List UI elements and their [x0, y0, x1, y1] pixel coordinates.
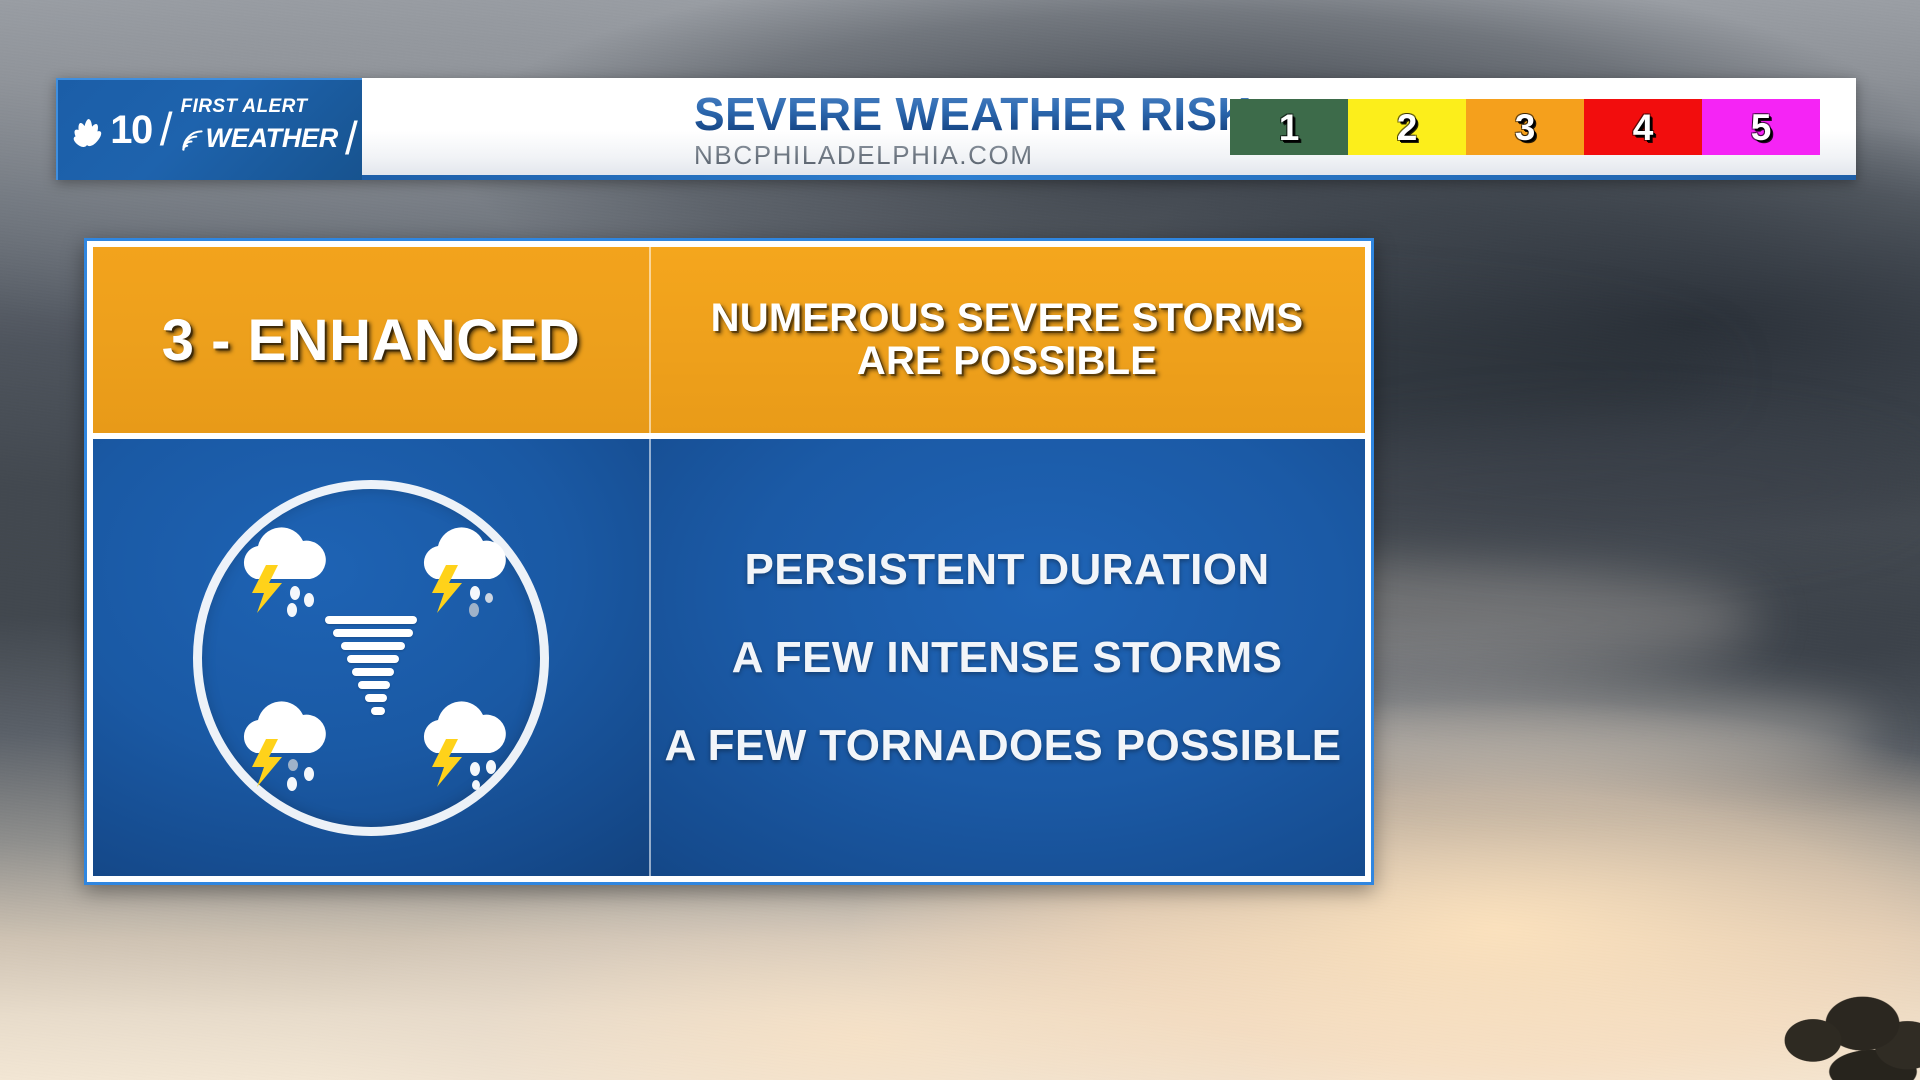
header-title-group: SEVERE WEATHER RISK NBCPHILADELPHIA.COM	[668, 78, 1251, 180]
risk-graphic-cell	[93, 439, 649, 876]
nbc-peacock-icon	[70, 115, 104, 145]
risk-level-label: 3 - ENHANCED	[162, 307, 581, 374]
risk-scale-legend: 1 2 3 4 5	[1230, 99, 1820, 155]
risk-summary-line1: NUMEROUS SEVERE STORMS	[711, 296, 1304, 340]
risk-summary-line2: ARE POSSIBLE	[857, 339, 1157, 383]
page-title: SEVERE WEATHER RISK	[694, 91, 1251, 137]
risk-level-banner: 3 - ENHANCED	[93, 247, 649, 433]
risk-detail-panel: 3 - ENHANCED NUMEROUS SEVERE STORMS ARE …	[84, 238, 1374, 885]
risk-bullet-2: A FEW INTENSE STORMS	[732, 636, 1283, 680]
tornado-icon	[325, 616, 417, 700]
risk-level-1[interactable]: 1	[1230, 99, 1348, 155]
risk-summary-text: NUMEROUS SEVERE STORMS ARE POSSIBLE	[711, 297, 1304, 383]
risk-level-4-number: 4	[1633, 109, 1654, 146]
logo-slash2-icon: /	[345, 115, 358, 161]
risk-summary-banner: NUMEROUS SEVERE STORMS ARE POSSIBLE	[649, 247, 1365, 433]
logo-weather-text: WEATHER	[206, 126, 338, 151]
thunderstorm-rain-icon	[410, 527, 514, 623]
risk-level-2-number: 2	[1397, 109, 1418, 146]
risk-bullet-3: A FEW TORNADOES POSSIBLE	[665, 724, 1342, 768]
risk-level-5[interactable]: 5	[1702, 99, 1820, 155]
radar-sweep-icon	[181, 129, 204, 152]
weather-graphic-stage: 10 / FIRST ALERT WEATHER	[0, 0, 1920, 1080]
panel-body-row: PERSISTENT DURATION A FEW INTENSE STORMS…	[93, 439, 1365, 876]
risk-bullet-1: PERSISTENT DURATION	[744, 548, 1269, 592]
risk-level-5-number: 5	[1751, 109, 1772, 146]
risk-level-3[interactable]: 3	[1466, 99, 1584, 155]
logo-slash-icon: /	[160, 106, 173, 152]
station-logo[interactable]: 10 / FIRST ALERT WEATHER	[56, 78, 362, 180]
logo-channel-number: 10	[110, 110, 152, 150]
risk-level-2[interactable]: 2	[1348, 99, 1466, 155]
page-subtitle: NBCPHILADELPHIA.COM	[694, 142, 1251, 168]
header-bar: 10 / FIRST ALERT WEATHER	[56, 78, 1856, 180]
thunderstorm-rain-icon	[230, 701, 334, 797]
risk-level-3-number: 3	[1515, 109, 1536, 146]
thunderstorm-rain-icon	[230, 527, 334, 623]
logo-first-alert-text: FIRST ALERT	[181, 98, 358, 116]
risk-level-1-number: 1	[1279, 109, 1300, 146]
panel-header-row: 3 - ENHANCED NUMEROUS SEVERE STORMS ARE …	[93, 247, 1365, 433]
risk-level-4[interactable]: 4	[1584, 99, 1702, 155]
risk-bullets-cell: PERSISTENT DURATION A FEW INTENSE STORMS…	[649, 439, 1365, 876]
risk-circle-icon	[193, 480, 549, 836]
thunderstorm-rain-icon	[410, 701, 514, 797]
tree-silhouette	[1780, 966, 1920, 1080]
panel-grid: 3 - ENHANCED NUMEROUS SEVERE STORMS ARE …	[93, 247, 1365, 876]
